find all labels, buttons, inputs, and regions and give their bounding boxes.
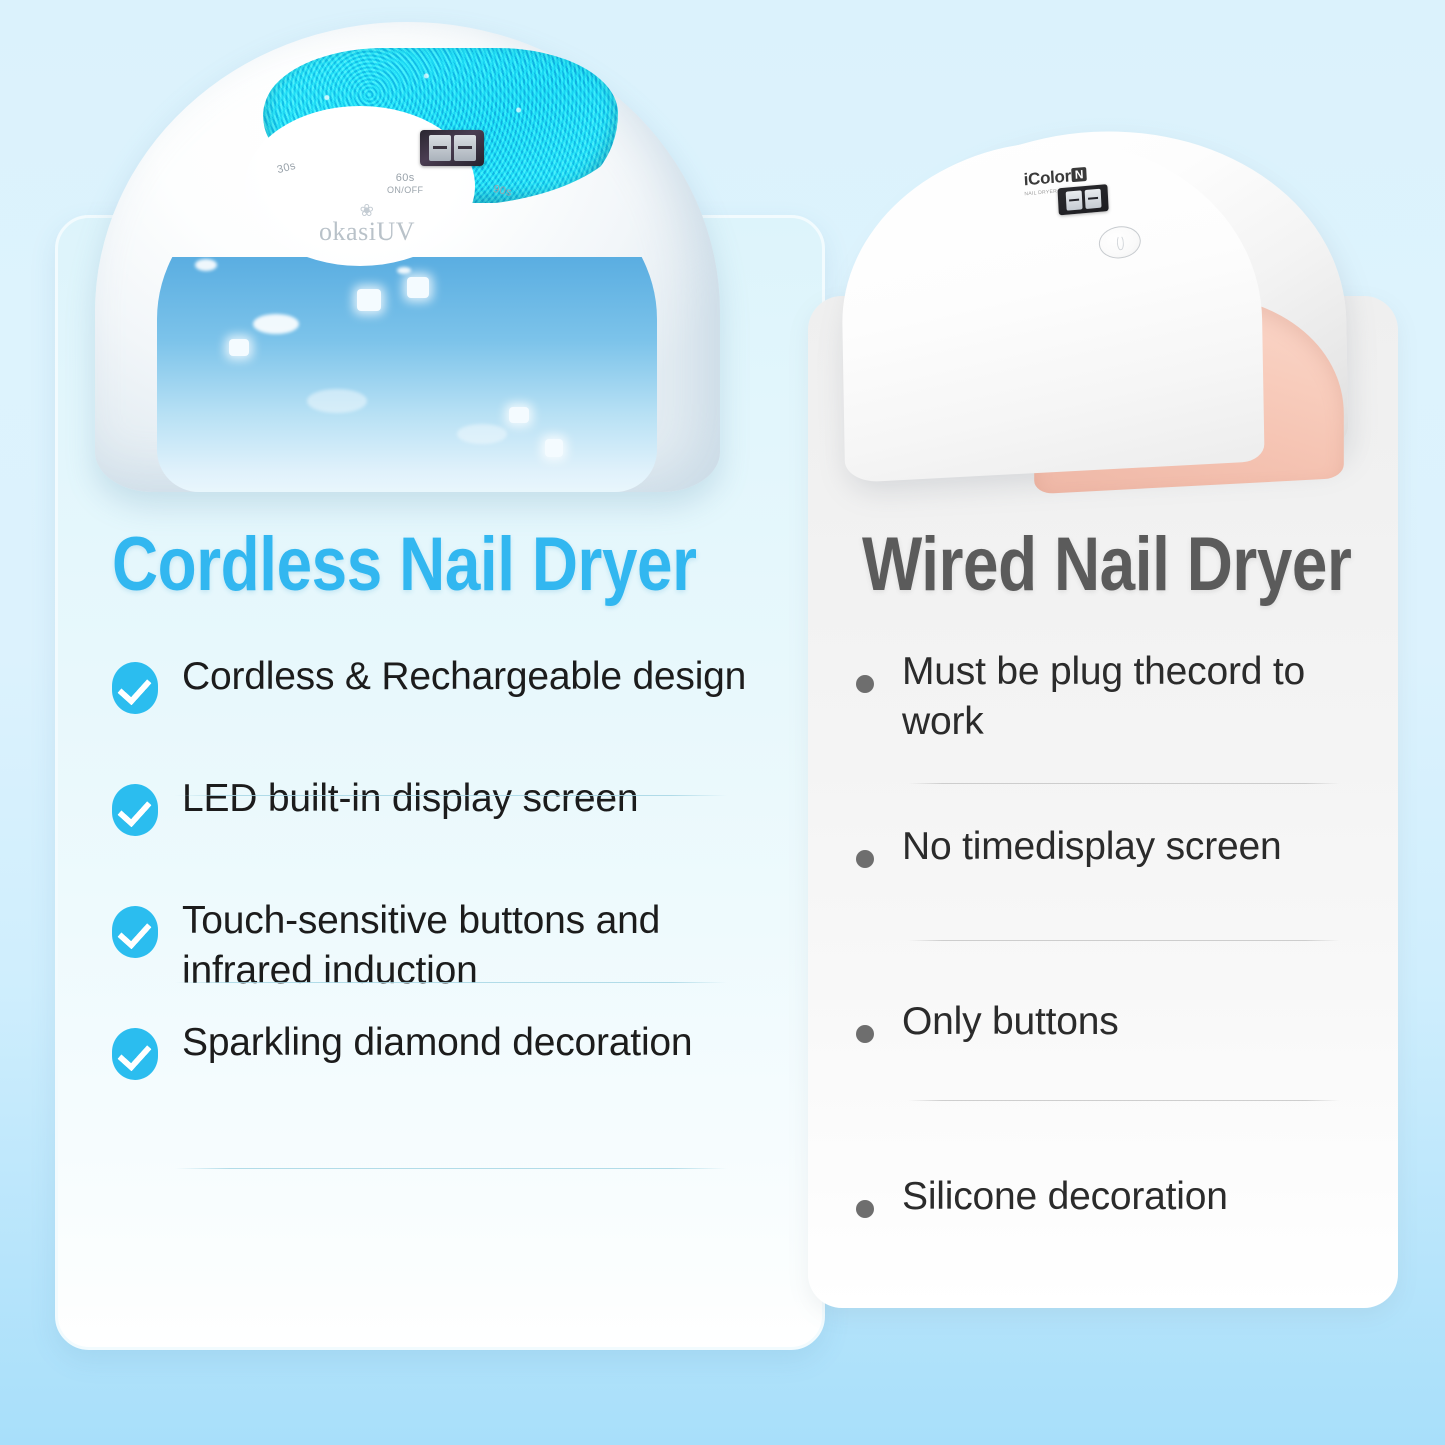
led-bead-icon bbox=[545, 439, 563, 457]
seven-segment-digit bbox=[429, 135, 451, 161]
list-divider bbox=[175, 795, 727, 796]
list-divider bbox=[908, 940, 1340, 941]
bullet-dot-icon bbox=[856, 1025, 874, 1043]
seven-segment-digit bbox=[1084, 189, 1101, 209]
bullet-dot-icon bbox=[856, 675, 874, 693]
led-bead-icon bbox=[357, 289, 381, 311]
seven-segment-digit bbox=[454, 135, 476, 161]
okasiuv-brand-logo: ❀ okasiUV bbox=[267, 202, 467, 247]
feature-text: Silicone decoration bbox=[902, 1170, 1228, 1222]
check-circle-icon bbox=[112, 1028, 158, 1080]
bullet-dot-icon bbox=[856, 850, 874, 868]
list-divider bbox=[175, 982, 727, 983]
feature-text: LED built-in display screen bbox=[182, 770, 638, 824]
feature-text: Sparkling diamond decoration bbox=[182, 1014, 692, 1068]
list-item: No timedisplay screen bbox=[856, 820, 1356, 995]
sparkle-icon bbox=[195, 259, 217, 271]
led-bead-icon bbox=[229, 339, 249, 356]
uv-chamber-interior bbox=[157, 257, 657, 492]
led-bead-icon bbox=[509, 407, 529, 423]
wired-feature-list: Must be plug thecord to work No timedisp… bbox=[856, 645, 1356, 1345]
check-circle-icon bbox=[112, 662, 158, 714]
check-circle-icon bbox=[112, 784, 158, 836]
dome-body: 30s 60s ON/OFF 90s ❀ okasiUV bbox=[95, 22, 720, 517]
cordless-nail-dryer-image: 30s 60s ON/OFF 90s ❀ okasiUV bbox=[95, 22, 720, 517]
list-item: Cordless & Rechargeable design bbox=[112, 648, 752, 770]
power-button[interactable] bbox=[1098, 224, 1142, 260]
bullet-dot-icon bbox=[856, 1200, 874, 1218]
list-item: Touch-sensitive buttons and infrared ind… bbox=[112, 892, 752, 1014]
check-circle-icon bbox=[112, 906, 158, 958]
feature-text: Cordless & Rechargeable design bbox=[182, 648, 746, 702]
timer-60s-button[interactable]: 60s ON/OFF bbox=[387, 172, 423, 195]
led-bead-icon bbox=[407, 277, 429, 298]
brand-chip: N bbox=[1071, 167, 1086, 182]
list-divider bbox=[908, 783, 1340, 784]
cordless-panel-heading: Cordless Nail Dryer bbox=[112, 521, 697, 608]
wired-panel-heading: Wired Nail Dryer bbox=[862, 521, 1351, 608]
timer-display-screen bbox=[420, 130, 484, 166]
cordless-feature-list: Cordless & Rechargeable design LED built… bbox=[112, 648, 752, 1136]
feature-text: No timedisplay screen bbox=[902, 820, 1281, 872]
brand-name: okasiUV bbox=[319, 217, 415, 246]
list-item: Must be plug thecord to work bbox=[856, 645, 1356, 820]
list-item: Sparkling diamond decoration bbox=[112, 1014, 752, 1136]
wired-nail-dryer-image: iColorN NAIL DRYER LAMP bbox=[838, 132, 1378, 492]
onoff-label: ON/OFF bbox=[387, 185, 423, 195]
list-item: Only buttons bbox=[856, 995, 1356, 1170]
comparison-infographic: 30s 60s ON/OFF 90s ❀ okasiUV iColorN NAI… bbox=[0, 0, 1445, 1445]
feature-text: Touch-sensitive buttons and infrared ind… bbox=[182, 892, 752, 996]
seven-segment-digit bbox=[1065, 190, 1082, 210]
sparkle-icon bbox=[307, 389, 367, 413]
list-divider bbox=[175, 1168, 727, 1169]
uv-chamber bbox=[157, 257, 657, 492]
feature-text: Must be plug thecord to work bbox=[902, 645, 1356, 747]
timer-60s-label: 60s bbox=[396, 172, 415, 184]
sparkle-icon bbox=[457, 424, 507, 444]
list-item: Silicone decoration bbox=[856, 1170, 1356, 1345]
list-item: LED built-in display screen bbox=[112, 770, 752, 892]
mini-timer-display bbox=[1057, 184, 1108, 215]
list-divider bbox=[908, 1100, 1340, 1101]
brand-name: iColor bbox=[1023, 166, 1071, 189]
feature-text: Only buttons bbox=[902, 995, 1119, 1047]
sparkle-icon bbox=[397, 267, 411, 274]
sparkle-icon bbox=[253, 314, 299, 334]
